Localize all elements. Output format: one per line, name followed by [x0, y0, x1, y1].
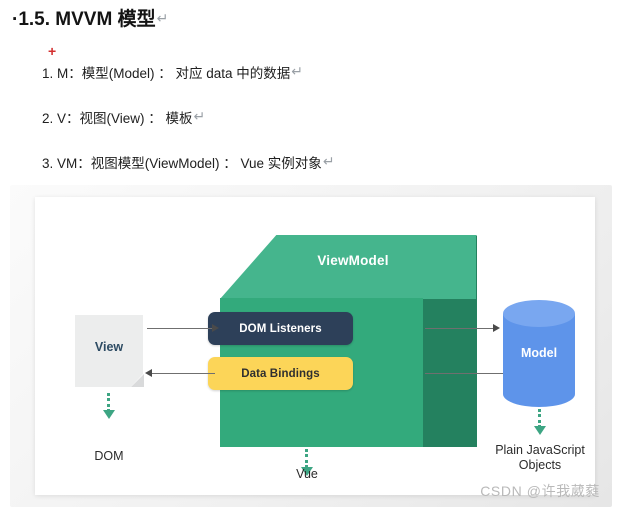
caption-line-1: Plain JavaScript — [481, 443, 599, 458]
arrow-right-icon — [212, 324, 219, 332]
list-item: + 1. M：模型(Model) ： 对应 data 中的数据↵ — [42, 62, 562, 83]
mvvm-diagram-card: View ViewModel DOM Listeners Data Bindin… — [35, 197, 595, 495]
caption-line-2: Objects — [481, 458, 599, 473]
revision-mark-icon: + — [48, 46, 56, 56]
data-bindings-pill: Data Bindings — [208, 357, 353, 390]
model-cylinder-top — [503, 300, 575, 327]
page-title: ·1.5. MVVM 模型↵ — [12, 4, 168, 31]
connector-bindings-to-view — [147, 373, 215, 374]
arrow-down-icon — [534, 426, 546, 435]
caption-vue: Vue — [267, 467, 347, 482]
model-label: Model — [503, 346, 575, 360]
csdn-watermark: CSDN @许我葳蕤 — [480, 481, 600, 501]
connector-model-to-viewmodel — [425, 373, 503, 374]
pilcrow-icon: ↵ — [323, 153, 335, 169]
list-item: 3. VM：视图模型(ViewModel) ： Vue 实例对象↵ — [42, 152, 562, 173]
figure-page-background: View ViewModel DOM Listeners Data Bindin… — [10, 185, 612, 507]
arrow-down-icon — [103, 410, 115, 419]
list-item: 2. V：视图(View) ： 模板↵ — [42, 107, 562, 128]
connector-view-to-listeners — [147, 328, 215, 329]
definition-list: + 1. M：模型(Model) ： 对应 data 中的数据↵ 2. V：视图… — [42, 62, 562, 197]
list-item-text: 2. V：视图(View) ： 模板 — [42, 111, 193, 126]
arrow-right-icon — [493, 324, 500, 332]
viewmodel-label: ViewModel — [243, 253, 463, 268]
caption-plain-javascript-objects: Plain JavaScript Objects — [481, 443, 599, 473]
data-bindings-label: Data Bindings — [241, 368, 320, 380]
pilcrow-icon: ↵ — [291, 63, 303, 79]
arrow-left-icon — [145, 369, 152, 377]
page-title-text: ·1.5. MVVM 模型 — [12, 9, 156, 30]
pilcrow-icon: ↵ — [194, 108, 206, 124]
connector-viewmodel-to-model — [425, 328, 497, 329]
dotted-line-viewmodel-vue — [305, 449, 308, 468]
dom-listeners-pill: DOM Listeners — [208, 312, 353, 345]
caption-dom: DOM — [69, 449, 149, 464]
view-label: View — [75, 340, 143, 354]
pilcrow-icon: ↵ — [157, 10, 169, 26]
dom-listeners-label: DOM Listeners — [239, 323, 321, 335]
list-item-text: 3. VM：视图模型(ViewModel) ： Vue 实例对象 — [42, 156, 322, 171]
list-item-text: 1. M：模型(Model) ： 对应 data 中的数据 — [42, 66, 290, 81]
